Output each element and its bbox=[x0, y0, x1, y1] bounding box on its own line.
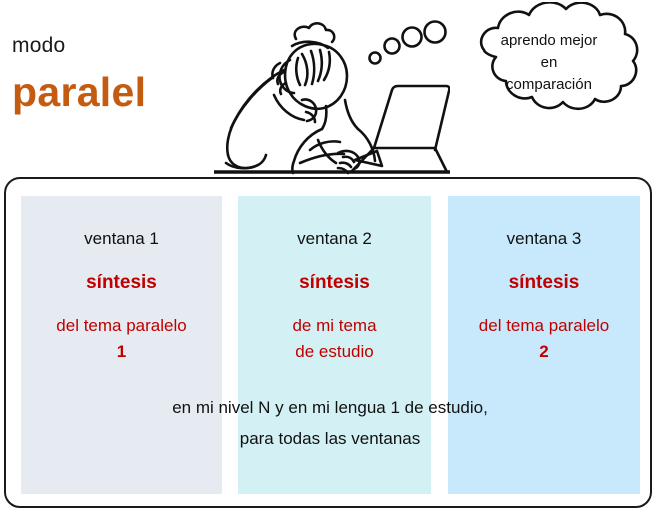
window-description-line2-2: de estudio bbox=[295, 342, 373, 361]
window-label-3: ventana 3 bbox=[448, 229, 640, 249]
window-description-1: del tema paralelo 1 bbox=[21, 313, 222, 365]
window-column-1[interactable]: ventana 1 síntesis del tema paralelo 1 bbox=[21, 196, 222, 494]
person-studying-at-laptop-illustration bbox=[214, 0, 450, 176]
bubble-line-2: en bbox=[541, 54, 558, 71]
window-description-line1-1: del tema paralelo bbox=[56, 316, 186, 335]
window-description-line2-3: 2 bbox=[539, 342, 548, 361]
window-columns: ventana 1 síntesis del tema paralelo 1 v… bbox=[6, 179, 654, 510]
thought-bubble-text: aprendo mejor en comparación bbox=[469, 30, 629, 96]
window-description-line2-1: 1 bbox=[117, 342, 126, 361]
window-description-3: del tema paralelo 2 bbox=[448, 313, 640, 365]
window-label-1: ventana 1 bbox=[21, 229, 222, 249]
header: modo paralel bbox=[0, 0, 657, 174]
bubble-line-1: aprendo mejor bbox=[501, 32, 598, 49]
illustration-svg bbox=[214, 0, 450, 176]
synthesis-label-3: síntesis bbox=[448, 272, 640, 294]
window-column-2[interactable]: ventana 2 síntesis de mi tema de estudio bbox=[238, 196, 431, 494]
parallel-mode-panel: ventana 1 síntesis del tema paralelo 1 v… bbox=[4, 177, 652, 508]
page-title: paralel bbox=[12, 72, 146, 113]
title-kicker: modo bbox=[12, 35, 65, 56]
bubble-line-3: comparación bbox=[506, 76, 592, 93]
window-description-line1-2: de mi tema bbox=[292, 316, 376, 335]
window-column-3[interactable]: ventana 3 síntesis del tema paralelo 2 bbox=[448, 196, 640, 494]
synthesis-label-2: síntesis bbox=[238, 272, 431, 294]
thought-bubble: aprendo mejor en comparación bbox=[440, 2, 657, 122]
window-description-line1-3: del tema paralelo bbox=[479, 316, 609, 335]
window-label-2: ventana 2 bbox=[238, 229, 431, 249]
window-description-2: de mi tema de estudio bbox=[238, 313, 431, 365]
synthesis-label-1: síntesis bbox=[21, 272, 222, 294]
